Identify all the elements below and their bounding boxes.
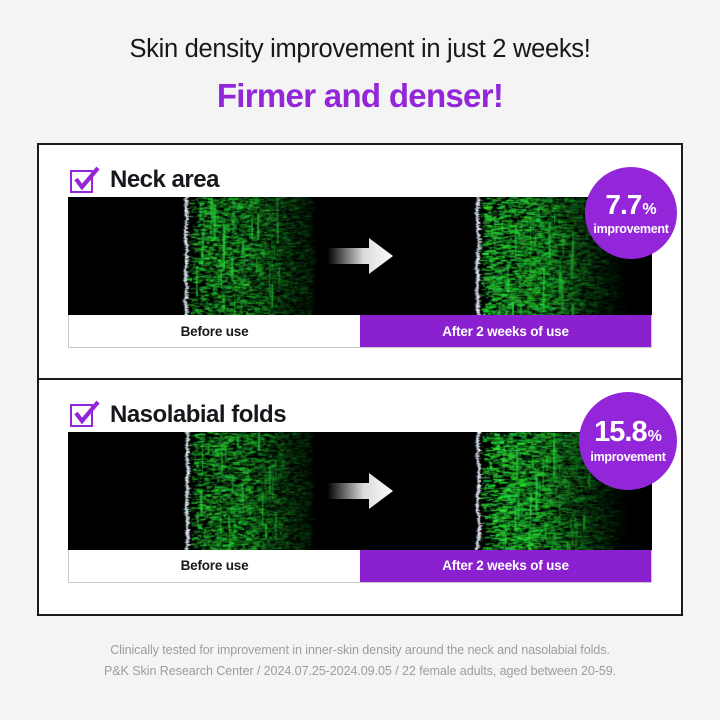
result-card-neck: Neck area xyxy=(39,145,681,380)
scan-labels: Before use After 2 weeks of use xyxy=(68,315,652,348)
card-title: Nasolabial folds xyxy=(110,403,286,427)
label-after-use: After 2 weeks of use xyxy=(360,550,651,582)
result-card-nasolabial: Nasolabial folds xyxy=(39,380,681,615)
footer-line-1: Clinically tested for improvement in inn… xyxy=(0,640,720,661)
checkbox-checked-icon xyxy=(70,167,97,194)
badge-caption: improvement xyxy=(593,222,668,236)
scan-before xyxy=(68,197,360,315)
scan-labels: Before use After 2 weeks of use xyxy=(68,550,652,583)
label-before-use: Before use xyxy=(69,550,360,582)
card-title: Neck area xyxy=(110,168,219,192)
results-frame: Neck area xyxy=(37,143,683,616)
badge-value-line: 7.7 % xyxy=(605,191,656,219)
badge-value-line: 15.8 % xyxy=(594,418,662,447)
badge-value: 15.8 xyxy=(594,418,646,447)
headline: Firmer and denser! xyxy=(0,76,720,116)
checkbox-checked-icon xyxy=(70,401,97,428)
scan-before xyxy=(68,432,360,550)
subheadline: Skin density improvement in just 2 weeks… xyxy=(0,34,720,65)
badge-percent-sign: % xyxy=(648,429,662,445)
badge-value: 7.7 xyxy=(605,191,641,219)
scan-row xyxy=(68,432,652,550)
label-after-use: After 2 weeks of use xyxy=(360,315,651,347)
badge-caption: improvement xyxy=(590,450,665,464)
page-header: Skin density improvement in just 2 weeks… xyxy=(0,0,720,115)
footer-disclaimer: Clinically tested for improvement in inn… xyxy=(0,640,720,682)
scan-strip: Before use After 2 weeks of use xyxy=(68,197,652,348)
scan-row xyxy=(68,197,652,315)
improvement-badge: 7.7 % improvement xyxy=(585,167,677,259)
scan-strip: Before use After 2 weeks of use xyxy=(68,432,652,583)
label-before-use: Before use xyxy=(69,315,360,347)
badge-percent-sign: % xyxy=(642,202,656,218)
card-header: Neck area xyxy=(39,145,681,197)
footer-line-2: P&K Skin Research Center / 2024.07.25-20… xyxy=(0,661,720,682)
improvement-badge: 15.8 % improvement xyxy=(579,392,677,490)
